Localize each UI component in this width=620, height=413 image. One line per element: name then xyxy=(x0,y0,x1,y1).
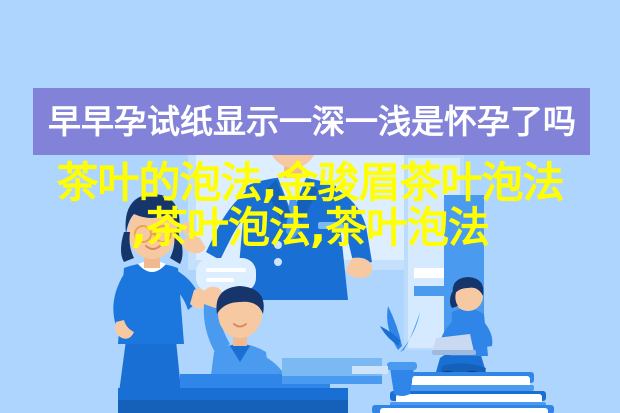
banner-title: 早早孕试纸显示一深一浅是怀孕了吗 xyxy=(48,92,588,152)
headline-line-1: 茶叶的泡法,金骏眉茶叶泡法 xyxy=(0,160,620,205)
image-canvas: 早早孕试纸显示一深一浅是怀孕了吗 茶叶的泡法,金骏眉茶叶泡法 ,茶叶泡法,茶叶泡… xyxy=(0,0,620,413)
headline-line-2: ,茶叶泡法,茶叶泡法 xyxy=(0,205,620,250)
headline-overlay: 茶叶的泡法,金骏眉茶叶泡法 ,茶叶泡法,茶叶泡法 xyxy=(0,160,620,250)
